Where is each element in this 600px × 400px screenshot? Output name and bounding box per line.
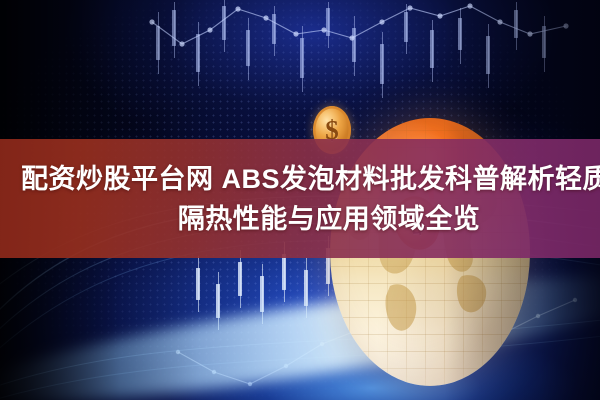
promo-banner: $ $ 配资炒股平台网 ABS发泡材料批发科普解析轻质 隔热性能与应用领域全览 — [0, 0, 600, 400]
title-line-2: 隔热性能与应用领域全览 — [178, 200, 481, 238]
title-line-1: 配资炒股平台网 ABS发泡材料批发科普解析轻质 — [21, 160, 600, 198]
title-block: 配资炒股平台网 ABS发泡材料批发科普解析轻质 隔热性能与应用领域全览 — [0, 139, 600, 258]
